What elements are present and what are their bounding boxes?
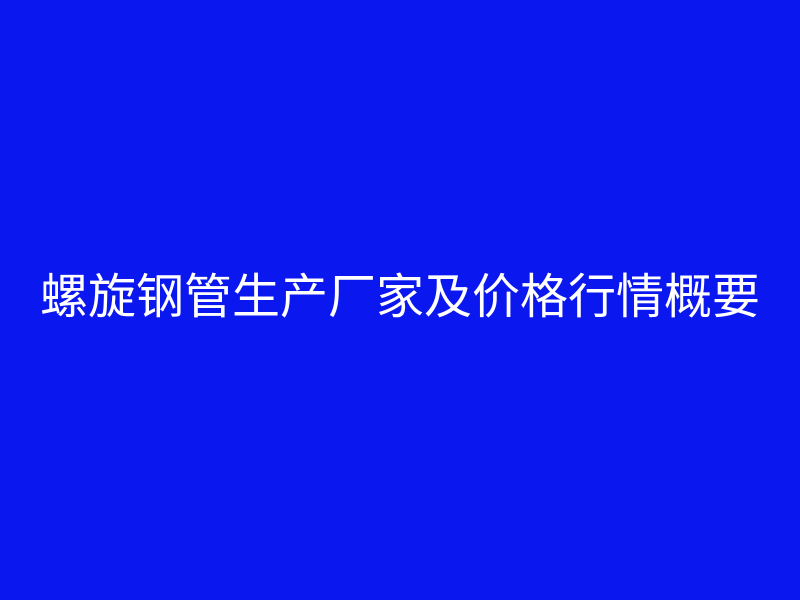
headline-block: 螺旋钢管生产厂家及价格行情概要 (0, 0, 800, 600)
page-title: 螺旋钢管生产厂家及价格行情概要 (0, 269, 800, 326)
slide-canvas: 螺旋钢管生产厂家及价格行情概要 (0, 0, 800, 600)
